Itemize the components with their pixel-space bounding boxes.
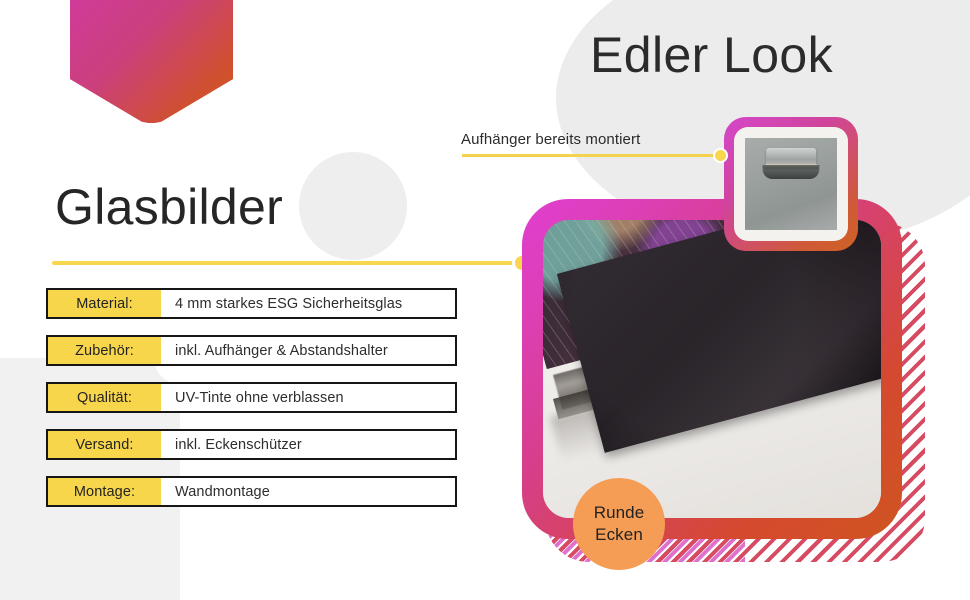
table-row: Qualität: UV-Tinte ohne verblassen [46,382,457,413]
spec-label: Versand: [48,431,161,458]
spec-label: Montage: [48,478,161,505]
spec-table: Material: 4 mm starkes ESG Sicherheitsgl… [46,288,457,523]
hanger-inset-inner [734,127,848,241]
infographic-canvas: Edler Look Glasbilder Material: 4 mm sta… [0,0,970,600]
spec-value: Wandmontage [161,478,455,505]
rounded-corners-badge-line2: Ecken [595,524,643,546]
product-photo-frame [522,199,902,539]
hanger-callout-line [462,154,720,157]
title-connector-line [52,261,520,265]
table-row: Montage: Wandmontage [46,476,457,507]
spec-label: Material: [48,290,161,317]
wall-hanger-bracket-icon [745,138,837,230]
table-row: Material: 4 mm starkes ESG Sicherheitsgl… [46,288,457,319]
feature-headline: Edler Look [590,26,833,84]
spec-value: inkl. Eckenschützer [161,431,455,458]
product-photo [543,220,881,518]
table-row: Versand: inkl. Eckenschützer [46,429,457,460]
spec-value: 4 mm starkes ESG Sicherheitsglas [161,290,455,317]
connector-dot-icon [713,148,728,163]
spec-label: Zubehör: [48,337,161,364]
hanger-inset-frame [724,117,858,251]
hanger-plate [762,165,819,180]
rounded-corners-badge-line1: Runde [594,502,645,524]
hanger-callout-label: Aufhänger bereits montiert [461,131,640,148]
table-row: Zubehör: inkl. Aufhänger & Abstandshalte… [46,335,457,366]
page-title: Glasbilder [55,178,283,236]
banner-shield-shape [70,0,233,123]
spec-value: UV-Tinte ohne verblassen [161,384,455,411]
rounded-corners-badge: Runde Ecken [573,478,665,570]
background-circle-behind-title [299,152,407,260]
spec-label: Qualität: [48,384,161,411]
spec-value: inkl. Aufhänger & Abstandshalter [161,337,455,364]
